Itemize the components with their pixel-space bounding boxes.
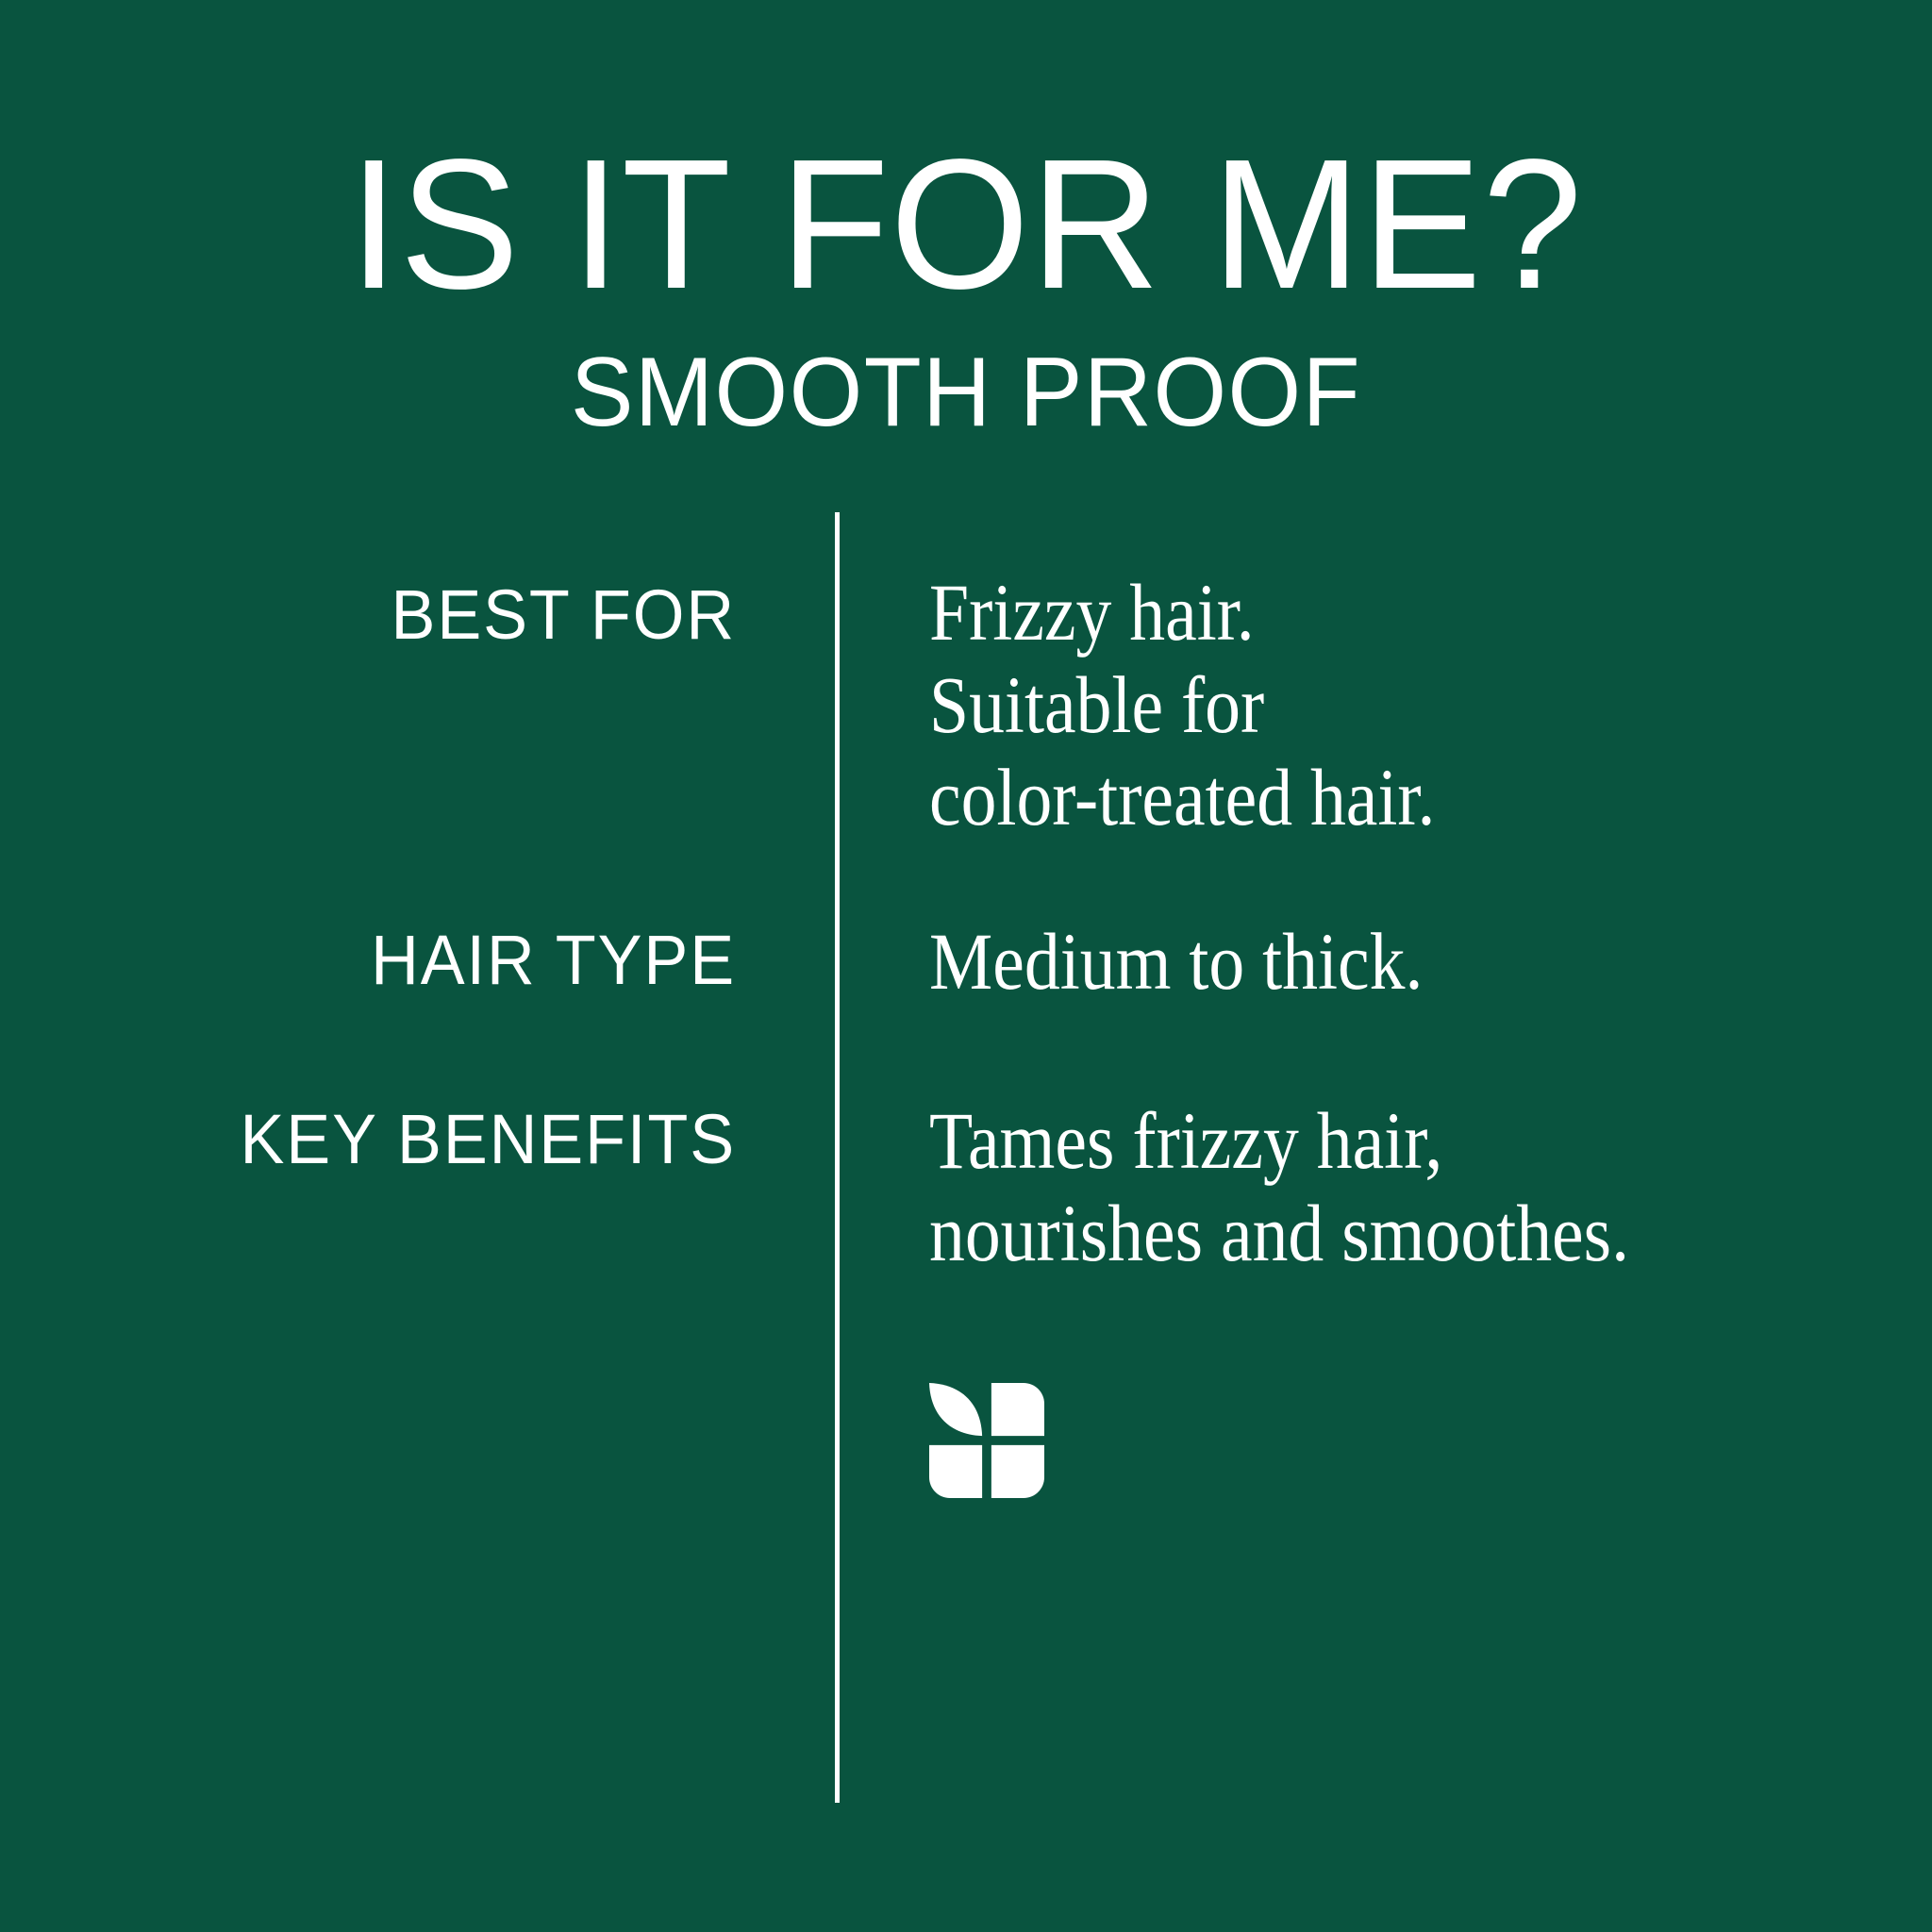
leaf-square-logo-icon: [929, 1383, 1044, 1498]
spec-value-hair-type: Medium to thick.: [929, 915, 1759, 1008]
product-spec-card: IS IT FOR ME? SMOOTH PROOF BEST FOR Friz…: [0, 0, 1932, 1932]
spec-value-best-for: Frizzy hair. Suitable for color-treated …: [929, 566, 1759, 843]
spec-label-hair-type: HAIR TYPE: [144, 919, 736, 1002]
spec-value-key-benefits: Tames frizzy hair, nourishes and smoothe…: [929, 1094, 1759, 1279]
spec-list: BEST FOR Frizzy hair. Suitable for color…: [0, 0, 1932, 1932]
brand-logo: [929, 1383, 1044, 1498]
spec-label-key-benefits: KEY BENEFITS: [144, 1098, 736, 1181]
spec-label-best-for: BEST FOR: [144, 574, 736, 657]
